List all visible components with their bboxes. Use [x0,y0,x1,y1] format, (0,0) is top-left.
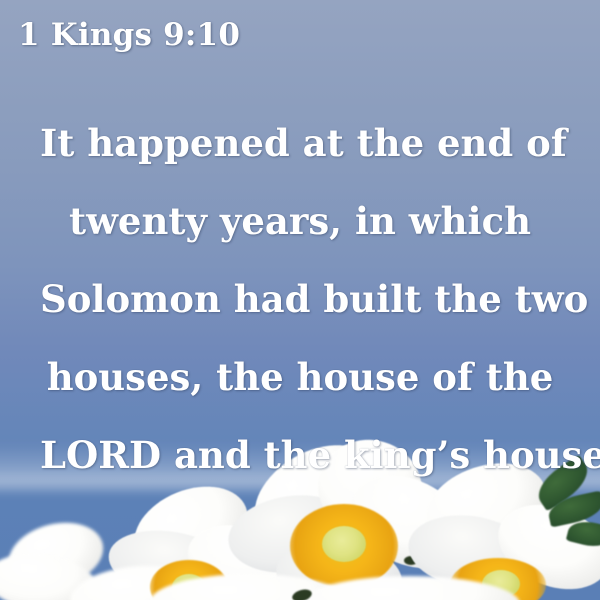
petal [2,513,110,596]
verse-line: houses, the house of the [40,338,560,416]
petal [273,536,405,600]
leaf [546,490,600,527]
flower-stamens [290,504,398,588]
scripture-image-card: 1 Kings 9:10 It happened at the end of t… [0,0,600,600]
petal [178,511,315,600]
leaf [566,517,600,551]
verse-line: LORD and the king’s house [40,416,560,494]
petal [0,548,99,600]
scripture-reference: 1 Kings 9:10 [18,16,240,54]
pollen-speck [404,556,418,565]
flower-disc [322,526,366,562]
flower-disc [172,574,206,600]
verse-line: twenty years, in which [40,182,560,260]
verse-line: Solomon had built the two [40,260,560,338]
petal [486,489,600,600]
petal [223,487,360,580]
verse-text: It happened at the end of twenty years, … [40,104,560,494]
verse-line: It happened at the end of [40,104,560,182]
flower-stamens [450,558,546,600]
flower-disc [482,570,520,598]
pollen-speck [291,587,313,600]
flower-stamens [150,560,228,600]
petal [103,521,241,600]
petal [150,574,350,600]
petal [300,576,520,600]
petal [404,508,537,597]
petal [68,561,212,600]
